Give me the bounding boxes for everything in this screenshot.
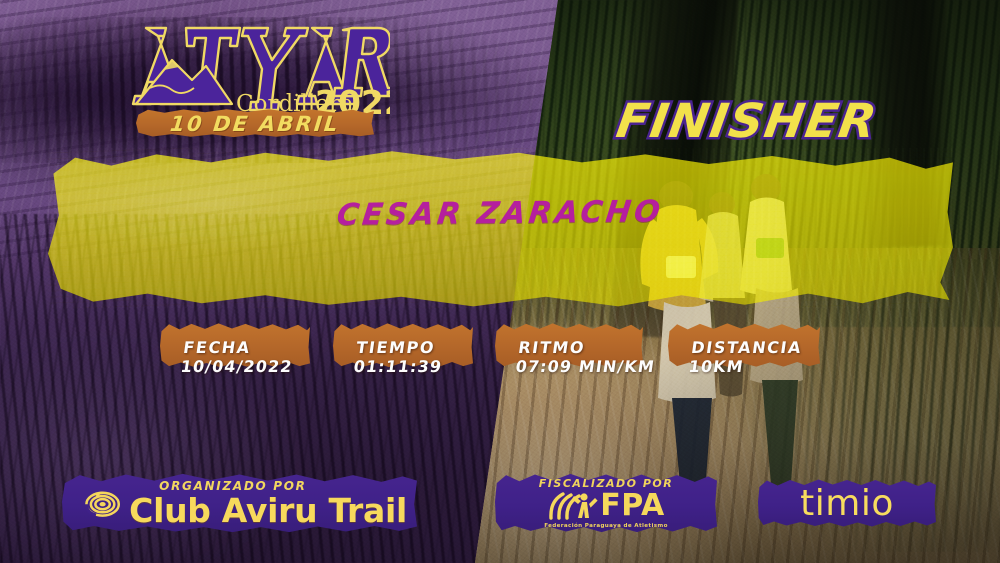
stat-label: TIEMPO (355, 338, 498, 357)
organizer-name: Club Aviru Trail (129, 494, 407, 527)
stat-label: RITMO (517, 338, 668, 357)
sanctioner-name: FPA (600, 491, 664, 521)
fpa-runner-icon (547, 491, 599, 521)
timing-sponsor[interactable]: timio (758, 478, 936, 528)
stat-label: FECHA (182, 338, 335, 357)
stat-ritmo: RITMO 07:09 MIN/KM (495, 322, 643, 368)
finisher-badge-label: FINISHER (578, 94, 917, 149)
sanctioner-subtitle: Federación Paraguaya de Atletismo (544, 523, 668, 529)
organizer-sponsor[interactable]: ORGANIZADO POR Club Aviru Trail (62, 472, 417, 534)
stat-value: 01:11:39 (352, 357, 495, 377)
stat-tiempo: TIEMPO 01:11:39 (333, 322, 473, 368)
stat-distancia: DISTANCIA 10KM (668, 322, 820, 368)
stats-row: FECHA 10/04/2022 TIEMPO 01:11:39 RITMO 0… (0, 322, 1000, 388)
date-banner-label: 10 DE ABRIL (135, 110, 376, 138)
timing-name: timio (800, 483, 894, 524)
stat-value: 10/04/2022 (179, 357, 332, 377)
sanctioner-sponsor[interactable]: FISCALIZADO POR FPA (495, 472, 717, 534)
stat-value: 07:09 MIN/KM (514, 357, 665, 377)
finisher-certificate: Cordillera 2022 10 DE ABRIL FINISHER CES… (0, 0, 1000, 563)
organizer-kicker: ORGANIZADO POR (159, 480, 306, 492)
spiral-icon (84, 479, 121, 527)
stat-fecha: FECHA 10/04/2022 (160, 322, 310, 368)
stat-label: DISTANCIA (690, 338, 845, 357)
stat-value: 10KM (687, 357, 842, 377)
